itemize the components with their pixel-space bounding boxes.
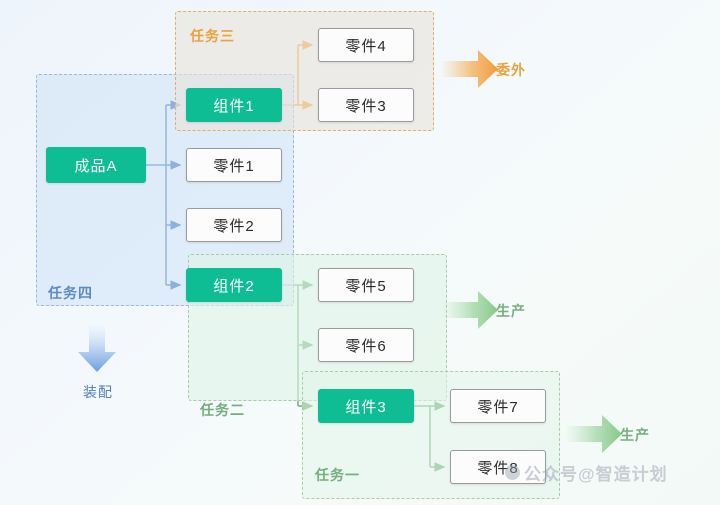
flow-label-production-1: 生产 — [496, 301, 526, 321]
node-component-2[interactable]: 组件2 — [186, 268, 282, 302]
group-label-task-two: 任务二 — [200, 400, 245, 420]
node-part-5[interactable]: 零件5 — [318, 268, 414, 302]
watermark: 公众号@智造计划 — [505, 460, 668, 485]
node-part-7[interactable]: 零件7 — [450, 389, 546, 423]
watermark-text: 公众号@智造计划 — [524, 460, 668, 485]
stage-arrow-outsource — [442, 50, 498, 88]
diagram-canvas: 任务四 任务三 任务二 任务一 成品A 组件1 组件2 组件3 零件1 零件2 … — [0, 0, 720, 505]
flow-label-production-2: 生产 — [620, 425, 650, 445]
flow-label-outsource: 委外 — [496, 60, 526, 80]
watermark-logo-icon — [505, 465, 520, 480]
group-label-task-four: 任务四 — [48, 283, 93, 303]
stage-arrow-production-1 — [442, 291, 498, 329]
stage-arrow-assembly — [78, 325, 116, 372]
node-part-2[interactable]: 零件2 — [186, 208, 282, 242]
node-product-a[interactable]: 成品A — [46, 147, 146, 183]
group-label-task-three: 任务三 — [190, 26, 235, 46]
flow-label-assembly: 装配 — [83, 382, 113, 402]
node-component-1[interactable]: 组件1 — [186, 88, 282, 122]
node-part-4[interactable]: 零件4 — [318, 28, 414, 62]
node-part-3[interactable]: 零件3 — [318, 88, 414, 122]
group-label-task-one: 任务一 — [315, 465, 360, 485]
node-component-3[interactable]: 组件3 — [318, 389, 414, 423]
stage-arrow-production-2 — [566, 415, 622, 453]
node-part-6[interactable]: 零件6 — [318, 328, 414, 362]
node-part-1[interactable]: 零件1 — [186, 148, 282, 182]
